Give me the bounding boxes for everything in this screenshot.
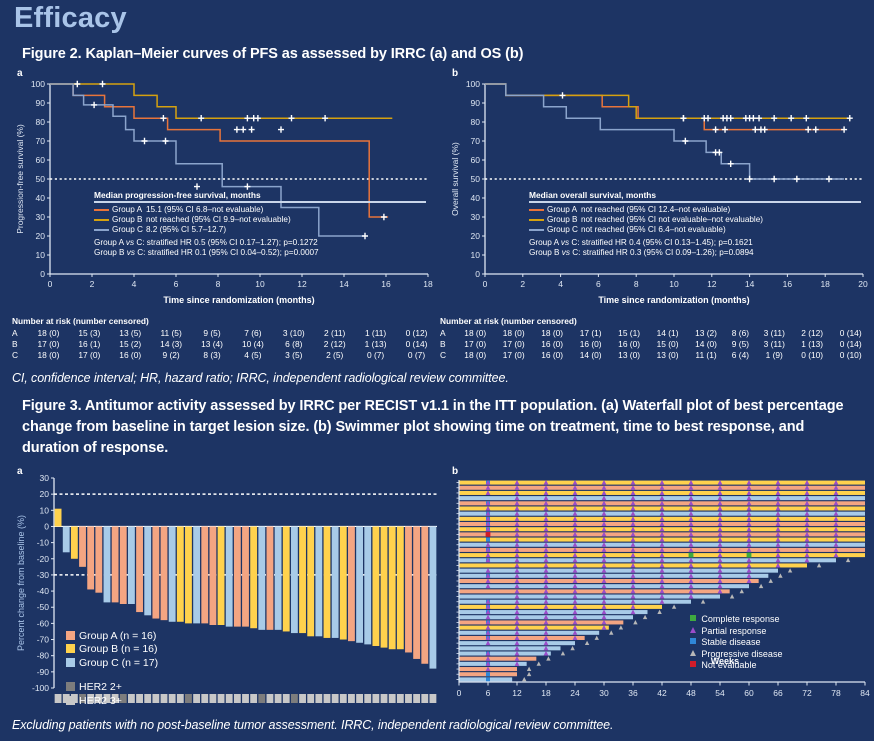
her2-status-cell [356, 694, 363, 703]
risk-cell: 14 (1) [648, 327, 686, 338]
risk-cell: 13 (2) [687, 327, 725, 338]
svg-text:0: 0 [475, 269, 480, 279]
risk-cell: 3 (5) [273, 350, 314, 361]
waterfall-bar [267, 526, 274, 629]
km-b-legend-title: Median overall survival, months [529, 190, 861, 200]
svg-text:4: 4 [558, 279, 563, 289]
waterfall-bar [324, 526, 331, 637]
progressive-disease-marker [522, 677, 526, 681]
svg-text:14: 14 [339, 279, 349, 289]
swimmer-bar [459, 631, 599, 635]
progressive-disease-marker [657, 610, 661, 614]
km-b-legend: Median overall survival, monthsGroup Ano… [529, 190, 861, 258]
waterfall-bar [193, 526, 200, 623]
swimmer-bar [459, 677, 512, 681]
km-legend-row: Group Bnot reached (95% CI not evaluable… [529, 215, 766, 225]
svg-text:24: 24 [570, 688, 580, 698]
legend-color-swatch [690, 615, 696, 621]
progressive-disease-marker [570, 646, 574, 650]
progressive-disease-marker [769, 579, 773, 583]
her2-legend-label: HER2 3+ [79, 695, 122, 707]
km-curve-group-c [485, 84, 844, 179]
swimmer-bar [459, 651, 551, 655]
risk-row-label: C [12, 350, 28, 361]
risk-cell: 0 (7) [396, 350, 437, 361]
her2-status-cell [397, 694, 404, 703]
waterfall-bar [250, 526, 257, 628]
svg-text:2: 2 [520, 279, 525, 289]
svg-text:36: 36 [628, 688, 638, 698]
legend-line-swatch [94, 225, 112, 235]
km-b-legend-rule [529, 201, 861, 202]
legend-swatch [94, 209, 109, 211]
svg-text:80: 80 [36, 117, 46, 127]
waterfall-bar [332, 526, 339, 637]
waterfall-legend-item: Group A (n = 16) [66, 630, 158, 644]
legend-group-label: Group B [112, 215, 146, 225]
risk-cell: 2 (11) [314, 327, 355, 338]
progressive-disease-marker [537, 661, 541, 665]
her2-status-cell [226, 694, 233, 703]
risk-cell: 0 (14) [831, 327, 870, 338]
svg-text:16: 16 [783, 279, 793, 289]
risk-cell: 17 (0) [69, 350, 110, 361]
table-row: A18 (0)15 (3)13 (5)11 (5)9 (5)7 (6)3 (10… [12, 327, 437, 338]
risk-cell: 3 (11) [756, 338, 793, 349]
her2-status-cell [283, 694, 290, 703]
risk-cell: 8 (3) [192, 350, 233, 361]
svg-text:40: 40 [471, 193, 481, 203]
legend-group-value: not reached (95% CI 9.9–not evaluable) [146, 215, 294, 225]
legend-spacer [66, 670, 158, 681]
risk-table: A18 (0)18 (0)18 (0)17 (1)15 (1)14 (1)13 … [440, 327, 870, 361]
km-pfs-chart: 1009080706050403020100024681012141618Pro… [14, 78, 434, 308]
her2-status-cell [218, 694, 225, 703]
svg-text:70: 70 [471, 136, 481, 146]
svg-text:18: 18 [541, 688, 551, 698]
figure3-footnote: Excluding patients with no post-baseline… [12, 718, 613, 732]
swimmer-legend-item: Stable disease [690, 637, 782, 649]
svg-text:30: 30 [471, 212, 481, 222]
svg-text:20: 20 [471, 231, 481, 241]
svg-text:16: 16 [381, 279, 391, 289]
km-a-hr-line: Group B vs C: stratified HR 0.1 (95% CI … [94, 248, 426, 259]
svg-text:20: 20 [858, 279, 868, 289]
risk-cell: 0 (7) [355, 350, 396, 361]
waterfall-bar [389, 526, 396, 649]
risk-cell: 11 (5) [151, 327, 192, 338]
km-a-legend-rule [94, 201, 426, 202]
swimmer-legend-label: Complete response [701, 614, 779, 624]
svg-text:12: 12 [297, 279, 307, 289]
table-row: A18 (0)18 (0)18 (0)17 (1)15 (1)14 (1)13 … [440, 327, 870, 338]
km-b-hr-line: Group A vs C: stratified HR 0.4 (95% CI … [529, 238, 861, 249]
her2-status-cell [389, 694, 396, 703]
risk-cell: 16 (0) [533, 350, 571, 361]
risk-cell: 9 (5) [192, 327, 233, 338]
svg-text:8: 8 [216, 279, 221, 289]
risk-cell: 13 (0) [610, 350, 648, 361]
legend-line-swatch [94, 215, 112, 225]
risk-cell: 15 (1) [610, 327, 648, 338]
risk-row-label: B [12, 338, 28, 349]
svg-text:-70: -70 [37, 635, 50, 645]
risk-cell: 9 (2) [151, 350, 192, 361]
swimmer-legend-label: Progressive disease [701, 649, 782, 659]
waterfall-bar [413, 526, 420, 658]
legend-swatch [529, 209, 544, 211]
progressive-disease-marker [585, 641, 589, 645]
svg-text:12: 12 [512, 688, 522, 698]
her2-status-cell [324, 694, 331, 703]
waterfall-legend-item: Group C (n = 17) [66, 657, 158, 671]
her2-status-cell [413, 694, 420, 703]
svg-text:0: 0 [483, 279, 488, 289]
waterfall-bar [185, 526, 192, 623]
svg-text:2: 2 [90, 279, 95, 289]
svg-text:Time since randomization (mon: Time since randomization (months) [598, 295, 749, 305]
svg-text:20: 20 [40, 489, 50, 499]
risk-cell: 0 (10) [793, 350, 831, 361]
legend-color-swatch [66, 682, 75, 691]
km-curve-group-b [50, 84, 392, 118]
risk-cell: 4 (5) [232, 350, 273, 361]
swimmer-legend-label: Not evaluable [701, 660, 756, 670]
risk-cell: 17 (0) [494, 338, 532, 349]
svg-text:-80: -80 [37, 651, 50, 661]
risk-cell: 3 (11) [756, 327, 793, 338]
waterfall-bar [161, 526, 168, 620]
swimmer-legend-label: Stable disease [701, 637, 760, 647]
swimmer-bar [459, 595, 720, 599]
svg-text:50: 50 [471, 174, 481, 184]
her2-status-cell [250, 694, 257, 703]
svg-text:90: 90 [36, 98, 46, 108]
svg-text:6: 6 [596, 279, 601, 289]
waterfall-bar [144, 526, 151, 615]
risk-cell: 10 (4) [232, 338, 273, 349]
km-legend-row: Group Cnot reached (95% CI 6.4–not evalu… [529, 225, 766, 235]
svg-text:100: 100 [31, 79, 45, 89]
progressive-disease-marker [643, 615, 647, 619]
svg-text:10: 10 [471, 250, 481, 260]
swimmer-legend-item: Progressive disease [690, 649, 782, 661]
her2-status-cell [258, 694, 265, 703]
her2-status-cell [405, 694, 412, 703]
waterfall-bar [152, 526, 159, 618]
risk-cell: 7 (6) [232, 327, 273, 338]
table-row: B17 (0)16 (1)15 (2)14 (3)13 (4)10 (4)6 (… [12, 338, 437, 349]
progressive-disease-marker [561, 651, 565, 655]
svg-text:60: 60 [471, 155, 481, 165]
waterfall-bar [397, 526, 404, 649]
risk-cell: 9 (5) [725, 338, 755, 349]
svg-text:80: 80 [471, 117, 481, 127]
her2-status-cell [421, 694, 428, 703]
waterfall-legend: Group A (n = 16)Group B (n = 16)Group C … [66, 630, 158, 709]
svg-text:70: 70 [36, 136, 46, 146]
her2-status-cell [307, 694, 314, 703]
svg-text:50: 50 [36, 174, 46, 184]
svg-text:-50: -50 [37, 602, 50, 612]
svg-text:-100: -100 [32, 683, 49, 693]
progressive-disease-marker [633, 620, 637, 624]
risk-cell: 2 (12) [793, 327, 831, 338]
waterfall-bar [356, 526, 363, 642]
waterfall-bar [87, 526, 94, 589]
legend-group-label: Group C [547, 225, 581, 235]
legend-group-label: Group B [547, 215, 581, 225]
svg-text:54: 54 [715, 688, 725, 698]
legend-swatch [529, 229, 544, 231]
swimmer-legend-item: Complete response [690, 614, 782, 626]
progressive-disease-marker [609, 630, 613, 634]
svg-text:18: 18 [820, 279, 830, 289]
swimmer-legend-item: Partial response [690, 626, 782, 638]
svg-text:100: 100 [466, 79, 480, 89]
progressive-disease-marker [527, 667, 531, 671]
risk-cell: 14 (0) [571, 350, 609, 361]
svg-text:Overall survival (%): Overall survival (%) [450, 142, 460, 216]
risk-cell: 13 (0) [648, 350, 686, 361]
legend-line-swatch [529, 205, 547, 215]
legend-group-value: not reached (95% CI 12.4–not evaluable) [581, 205, 766, 215]
page-title: Efficacy [14, 2, 127, 35]
swimmer-legend: Complete responsePartial responseStable … [690, 614, 782, 672]
svg-text:0: 0 [48, 279, 53, 289]
risk-b-header: Number at risk (number censored) [440, 316, 870, 326]
risk-cell: 18 (0) [28, 350, 69, 361]
svg-text:6: 6 [174, 279, 179, 289]
km-b-hr-text: Group A vs C: stratified HR 0.4 (95% CI … [529, 238, 861, 259]
svg-text:-60: -60 [37, 618, 50, 628]
her2-status-cell [193, 694, 200, 703]
waterfall-bar [340, 526, 347, 639]
her2-status-cell [267, 694, 274, 703]
risk-cell: 13 (5) [110, 327, 151, 338]
svg-text:40: 40 [36, 193, 46, 203]
legend-color-swatch [66, 696, 75, 705]
legend-triangle-swatch [690, 650, 696, 656]
number-at-risk-table-os: Number at risk (number censored)A18 (0)1… [440, 316, 870, 361]
waterfall-bar [104, 526, 111, 602]
legend-group-value: not reached (95% CI 6.4–not evaluable) [581, 225, 766, 235]
svg-text:10: 10 [36, 250, 46, 260]
waterfall-bar [299, 526, 306, 633]
risk-cell: 0 (10) [831, 350, 870, 361]
legend-group-value: not reached (95% CI not evaluable–not ev… [581, 215, 766, 225]
legend-swatch [94, 229, 109, 231]
legend-color-swatch [66, 658, 75, 667]
her2-status-cell [299, 694, 306, 703]
waterfall-bar [364, 526, 371, 644]
waterfall-bar [275, 526, 282, 629]
progressive-disease-marker [846, 558, 850, 562]
her2-status-cell [169, 694, 176, 703]
swimmer-bar [459, 636, 585, 640]
km-a-legend: Median progression-free survival, months… [94, 190, 426, 258]
progressive-disease-marker [701, 599, 705, 603]
her2-status-cell [430, 694, 437, 703]
risk-row-label: C [440, 350, 456, 361]
svg-text:4: 4 [132, 279, 137, 289]
progressive-disease-marker [778, 573, 782, 577]
waterfall-bar [226, 526, 233, 626]
waterfall-bar [372, 526, 379, 646]
progressive-disease-marker [595, 636, 599, 640]
risk-cell: 0 (14) [396, 338, 437, 349]
svg-text:30: 30 [40, 474, 50, 483]
her2-status-cell [372, 694, 379, 703]
her2-status-cell [332, 694, 339, 703]
her2-status-cell [209, 694, 216, 703]
waterfall-bar [95, 526, 102, 592]
legend-group-value: 15.1 (95% CI 6.8–not evaluable) [146, 205, 294, 215]
risk-cell: 2 (5) [314, 350, 355, 361]
svg-text:30: 30 [599, 688, 609, 698]
complete-response-marker [747, 553, 752, 558]
legend-line-swatch [529, 225, 547, 235]
swimmer-svg: 0612182430364248546066727884 [443, 474, 871, 710]
waterfall-bar [63, 526, 70, 552]
svg-text:-90: -90 [37, 667, 50, 677]
waterfall-bar [242, 526, 249, 626]
risk-row-label: A [440, 327, 456, 338]
her2-status-cell [242, 694, 249, 703]
risk-cell: 18 (0) [533, 327, 571, 338]
legend-group-label: Group A [112, 205, 146, 215]
km-curve-group-b [485, 84, 850, 118]
her2-status-cell [177, 694, 184, 703]
progressive-disease-marker [740, 589, 744, 593]
her2-status-cell [55, 694, 62, 703]
svg-text:90: 90 [471, 98, 481, 108]
her2-legend-label: HER2 2+ [79, 681, 122, 693]
waterfall-bar [128, 526, 135, 604]
progressive-disease-marker [759, 584, 763, 588]
stable-disease-marker [486, 677, 490, 681]
table-row: C18 (0)17 (0)16 (0)14 (0)13 (0)13 (0)11 … [440, 350, 870, 361]
svg-text:60: 60 [744, 688, 754, 698]
km-b-hr-line: Group B vs C: stratified HR 0.3 (95% CI … [529, 248, 861, 259]
poster-page: Efficacy Figure 2. Kaplan–Meier curves o… [0, 0, 874, 741]
risk-cell: 17 (0) [494, 350, 532, 361]
svg-text:10: 10 [669, 279, 679, 289]
waterfall-bar [177, 526, 184, 621]
svg-text:72: 72 [802, 688, 812, 698]
waterfall-plot: 3020100-10-20-30-40-50-60-70-80-90-100Pe… [14, 474, 439, 710]
svg-text:10: 10 [255, 279, 265, 289]
not-evaluable-marker [486, 532, 491, 537]
complete-response-marker [689, 553, 694, 558]
risk-cell: 0 (14) [831, 338, 870, 349]
risk-cell: 14 (0) [687, 338, 725, 349]
risk-cell: 17 (0) [456, 338, 494, 349]
her2-status-cell [315, 694, 322, 703]
svg-text:0: 0 [44, 521, 49, 531]
waterfall-bar [112, 526, 119, 602]
risk-cell: 11 (1) [687, 350, 725, 361]
risk-cell: 8 (6) [725, 327, 755, 338]
swimmer-legend-item: Not evaluable [690, 660, 782, 672]
risk-cell: 0 (12) [396, 327, 437, 338]
risk-cell: 17 (0) [28, 338, 69, 349]
svg-text:-40: -40 [37, 586, 50, 596]
km-legend-row: Group Bnot reached (95% CI 9.9–not evalu… [94, 215, 294, 225]
waterfall-bar [79, 526, 86, 566]
legend-line-swatch [529, 215, 547, 225]
waterfall-bar [315, 526, 322, 636]
svg-text:12: 12 [707, 279, 717, 289]
waterfall-bar [258, 526, 265, 629]
risk-cell: 1 (11) [355, 327, 396, 338]
legend-color-swatch [66, 644, 75, 653]
svg-text:42: 42 [657, 688, 667, 698]
waterfall-bar [209, 526, 216, 625]
legend-line-swatch [94, 205, 112, 215]
svg-text:6: 6 [486, 688, 491, 698]
legend-color-swatch [690, 638, 696, 644]
her2-status-cell [275, 694, 282, 703]
legend-group-label: Group A [547, 205, 581, 215]
risk-cell: 15 (0) [648, 338, 686, 349]
svg-text:8: 8 [634, 279, 639, 289]
number-at-risk-table-pfs: Number at risk (number censored)A18 (0)1… [12, 316, 437, 361]
legend-swatch [94, 219, 109, 221]
progressive-disease-marker [527, 672, 531, 676]
her2-status-cell [201, 694, 208, 703]
risk-row-label: B [440, 338, 456, 349]
waterfall-bar [71, 526, 78, 558]
waterfall-bar [283, 526, 290, 631]
her2-status-cell [185, 694, 192, 703]
her2-status-cell [381, 694, 388, 703]
svg-text:0: 0 [457, 688, 462, 698]
svg-text:0: 0 [40, 269, 45, 279]
table-row: C18 (0)17 (0)16 (0)9 (2)8 (3)4 (5)3 (5)2… [12, 350, 437, 361]
her2-status-cell [340, 694, 347, 703]
waterfall-bar [405, 526, 412, 652]
progressive-disease-marker [546, 656, 550, 660]
legend-color-swatch [690, 661, 696, 667]
risk-cell: 3 (10) [273, 327, 314, 338]
km-os-chart: 100908070605040302010002468101214161820O… [449, 78, 869, 308]
swimmer-bar [459, 620, 623, 624]
risk-table: A18 (0)15 (3)13 (5)11 (5)9 (5)7 (6)3 (10… [12, 327, 437, 361]
km-legend-row: Group C8.2 (95% CI 5.7–12.7) [94, 225, 294, 235]
risk-cell: 16 (1) [69, 338, 110, 349]
svg-text:48: 48 [686, 688, 696, 698]
km-legend-row: Group A15.1 (95% CI 6.8–not evaluable) [94, 205, 294, 215]
waterfall-bar [307, 526, 314, 636]
legend-group-label: Group C [112, 225, 146, 235]
svg-text:10: 10 [40, 505, 50, 515]
waterfall-bar [234, 526, 241, 626]
waterfall-legend-label: Group C (n = 17) [79, 657, 158, 669]
km-a-legend-title: Median progression-free survival, months [94, 190, 426, 200]
swimmer-plot: 0612182430364248546066727884WeeksComplet… [443, 474, 871, 710]
progressive-disease-marker [619, 625, 623, 629]
waterfall-bar [421, 526, 428, 663]
progressive-disease-marker [672, 604, 676, 608]
risk-cell: 18 (0) [494, 327, 532, 338]
svg-text:84: 84 [860, 688, 870, 698]
risk-cell: 6 (8) [273, 338, 314, 349]
km-a-hr-text: Group A vs C: stratified HR 0.5 (95% CI … [94, 238, 426, 259]
her2-legend-item: HER2 2+ [66, 681, 158, 695]
figure2-footnote: CI, confidence interval; HR, hazard rati… [12, 371, 509, 385]
her2-status-cell [348, 694, 355, 703]
